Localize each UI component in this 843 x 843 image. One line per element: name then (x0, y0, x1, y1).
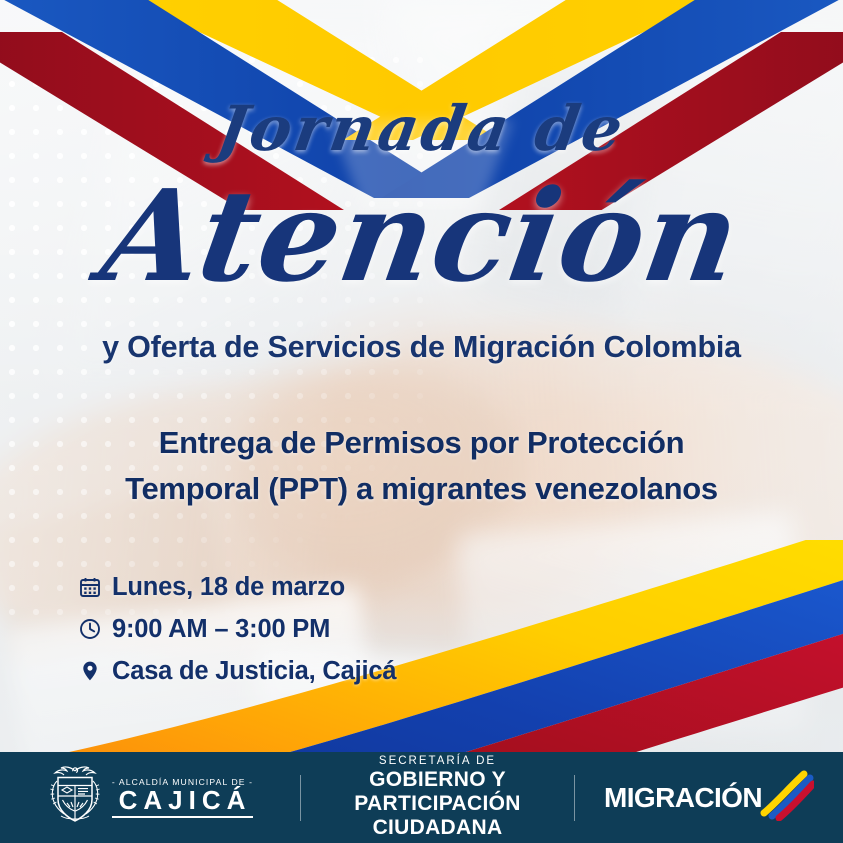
headline-line-2: Temporal (PPT) a migrantes venezolanos (0, 466, 843, 512)
detail-row-date: Lunes, 18 de marzo (78, 566, 396, 608)
secretaria-line-3: PARTICIPACIÓN CIUDADANA (301, 792, 574, 840)
secretaria-line-2: GOBIERNO Y (301, 768, 574, 792)
calendar-icon (78, 574, 112, 600)
cajica-underline (112, 816, 253, 818)
detail-place-text: Casa de Justicia, Cajicá (112, 657, 396, 686)
title-script-line2: Atención (0, 170, 843, 302)
poster-subtitle: y Oferta de Servicios de Migración Colom… (0, 330, 843, 365)
detail-row-time: 9:00 AM – 3:00 PM (78, 608, 396, 650)
location-pin-icon (78, 658, 112, 684)
secretaria-line-1: SECRETARÍA DE (301, 755, 574, 768)
footer-bar: - ALCALDÍA MUNICIPAL DE - CAJICÁ SECRETA… (0, 752, 843, 843)
migracion-flag-swoosh-icon (756, 769, 814, 826)
footer-logo-secretaria: SECRETARÍA DE GOBIERNO Y PARTICIPACIÓN C… (301, 752, 574, 843)
headline-line-1: Entrega de Permisos por Protección (0, 420, 843, 466)
poster-canvas: Jornada de Atención y Oferta de Servicio… (0, 0, 843, 843)
poster-content: Jornada de Atención y Oferta de Servicio… (0, 0, 843, 843)
title-script-line1: Jornada de (0, 92, 843, 165)
clock-icon (78, 616, 112, 642)
migracion-name: MIGRACIÓN (604, 782, 762, 814)
detail-time-text: 9:00 AM – 3:00 PM (112, 615, 330, 644)
cajica-coat-of-arms-icon (47, 764, 103, 831)
footer-logo-cajica: - ALCALDÍA MUNICIPAL DE - CAJICÁ (0, 752, 300, 843)
event-details: Lunes, 18 de marzo 9:00 AM – 3:00 PM (78, 566, 396, 692)
poster-headline: Entrega de Permisos por Protección Tempo… (0, 420, 843, 512)
footer-logo-migracion: MIGRACIÓN (575, 752, 843, 843)
detail-row-place: Casa de Justicia, Cajicá (78, 650, 396, 692)
detail-date-text: Lunes, 18 de marzo (112, 573, 345, 602)
cajica-name: CAJICÁ (112, 787, 253, 814)
